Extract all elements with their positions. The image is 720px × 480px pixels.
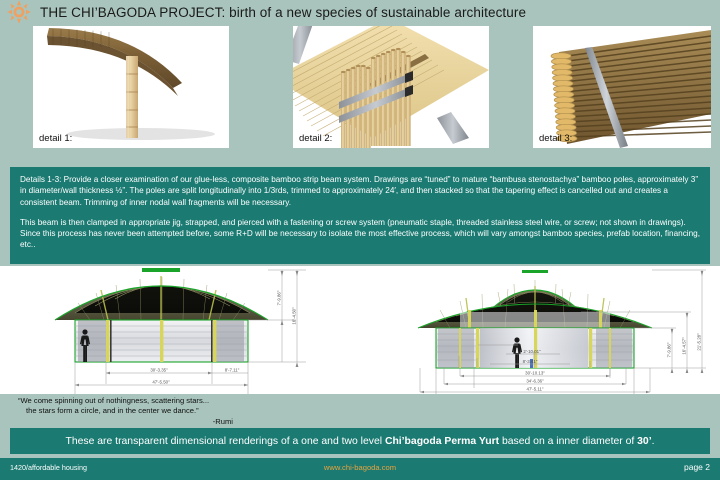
right-dim-h2: 8'-3.41" — [523, 359, 538, 364]
detail-2-illustration — [293, 26, 489, 148]
detail-1-illustration — [33, 26, 229, 148]
drawings-area: 30'-3.35" 8'-7.11" 47'-5.50" 7'-9.86" 16… — [0, 266, 720, 394]
rumi-quote: “We come spinning out of nothingness, sc… — [18, 396, 348, 428]
right-dim-h4: 34'-6.36" — [526, 379, 544, 384]
left-dim-v2: 16'-4.50" — [292, 307, 297, 325]
footer-website-link[interactable]: www.chi-bagoda.com — [0, 463, 720, 472]
footer-page-number: page 2 — [684, 462, 710, 472]
detail-card-2: detail 2: — [293, 26, 489, 148]
left-dim-h3: 47'-5.50" — [152, 380, 170, 385]
detail-card-3: detail 3: — [533, 26, 711, 148]
description-panel: Details 1-3: Provide a closer examinatio… — [10, 167, 710, 264]
caption-bold-product: Chi’bagoda Perma Yurt — [385, 436, 499, 447]
sun-icon — [4, 0, 34, 24]
detail-3-illustration — [533, 26, 711, 148]
right-dim-h5: 47'-5.11" — [527, 387, 544, 392]
caption-part-middle: based on a inner diameter of — [499, 436, 637, 447]
quote-attribution: -Rumi — [18, 417, 233, 426]
left-yurt-drawing: 30'-3.35" 8'-7.11" 47'-5.50" 7'-9.86" 16… — [55, 268, 306, 394]
detail-card-1: detail 1: — [33, 26, 229, 148]
right-dim-v3: 21'-5.28" — [697, 333, 702, 351]
caption-bold-diameter: 30’ — [637, 436, 651, 447]
page-title: THE CHI’BAGODA PROJECT: birth of a new s… — [40, 5, 526, 20]
page-footer: 1420/affordable housing www.chi-bagoda.c… — [0, 458, 720, 480]
detail-2-label: detail 2: — [299, 133, 332, 144]
detail-1-label: detail 1: — [39, 133, 72, 144]
caption-text: These are transparent dimensional render… — [66, 436, 655, 447]
right-yurt-drawing: 2'-10.01" 8'-3.41" 30'-10.13" 34'-6.36" … — [418, 270, 706, 394]
right-dim-h3: 30'-10.13" — [525, 371, 545, 376]
description-paragraph-2: This beam is then clamped in appropriate… — [20, 217, 700, 251]
left-dim-h1: 30'-3.35" — [150, 368, 168, 373]
description-paragraph-1: Details 1-3: Provide a closer examinatio… — [20, 174, 700, 208]
caption-part-after: . — [652, 436, 655, 447]
quote-line-1: “We come spinning out of nothingness, sc… — [18, 396, 348, 406]
detail-3-label: detail 3: — [539, 133, 572, 144]
caption-part-before: These are transparent dimensional render… — [66, 436, 385, 447]
left-dim-h2: 8'-7.11" — [225, 368, 240, 373]
right-dim-h1: 2'-10.01" — [523, 349, 541, 354]
quote-line-2: the stars form a circle, and in the cent… — [18, 406, 348, 416]
detail-images-row: detail 1: — [0, 26, 720, 160]
right-dim-v1: 7'-9.86" — [667, 342, 672, 357]
caption-bar: These are transparent dimensional render… — [10, 428, 710, 454]
right-dim-v2: 16'-4.57" — [682, 337, 687, 355]
page-header: THE CHI’BAGODA PROJECT: birth of a new s… — [0, 0, 720, 24]
left-dim-v1: 7'-9.86" — [277, 290, 282, 305]
